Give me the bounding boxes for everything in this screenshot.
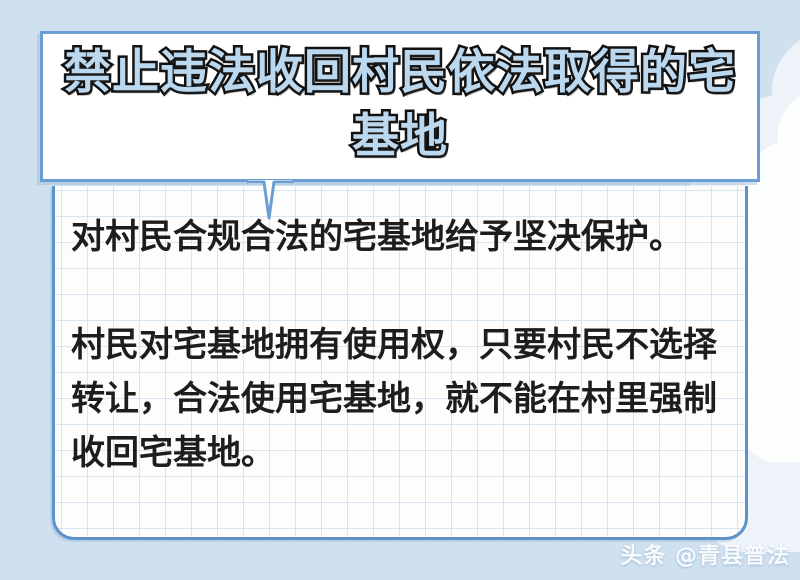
title-card: 禁止违法收回村民依法取得的宅基地	[40, 31, 760, 182]
body-paragraph-1: 对村民合规合法的宅基地给予坚决保护。	[71, 210, 733, 264]
body-paragraph-2: 村民对宅基地拥有使用权，只要村民不选择转让，合法使用宅基地，就不能在村里强制收回…	[71, 318, 733, 480]
speech-bubble-tail	[246, 178, 294, 222]
poster-canvas: 禁止违法收回村民依法取得的宅基地 对村民合规合法的宅基地给予坚决保护。 村民对宅…	[0, 0, 800, 580]
watermark-credit: 头条 @青县普法	[620, 542, 790, 572]
body-text-block: 对村民合规合法的宅基地给予坚决保护。 村民对宅基地拥有使用权，只要村民不选择转让…	[71, 210, 733, 480]
page-title: 禁止违法收回村民依法取得的宅基地	[43, 41, 757, 169]
body-card: 对村民合规合法的宅基地给予坚决保护。 村民对宅基地拥有使用权，只要村民不选择转让…	[52, 186, 748, 540]
